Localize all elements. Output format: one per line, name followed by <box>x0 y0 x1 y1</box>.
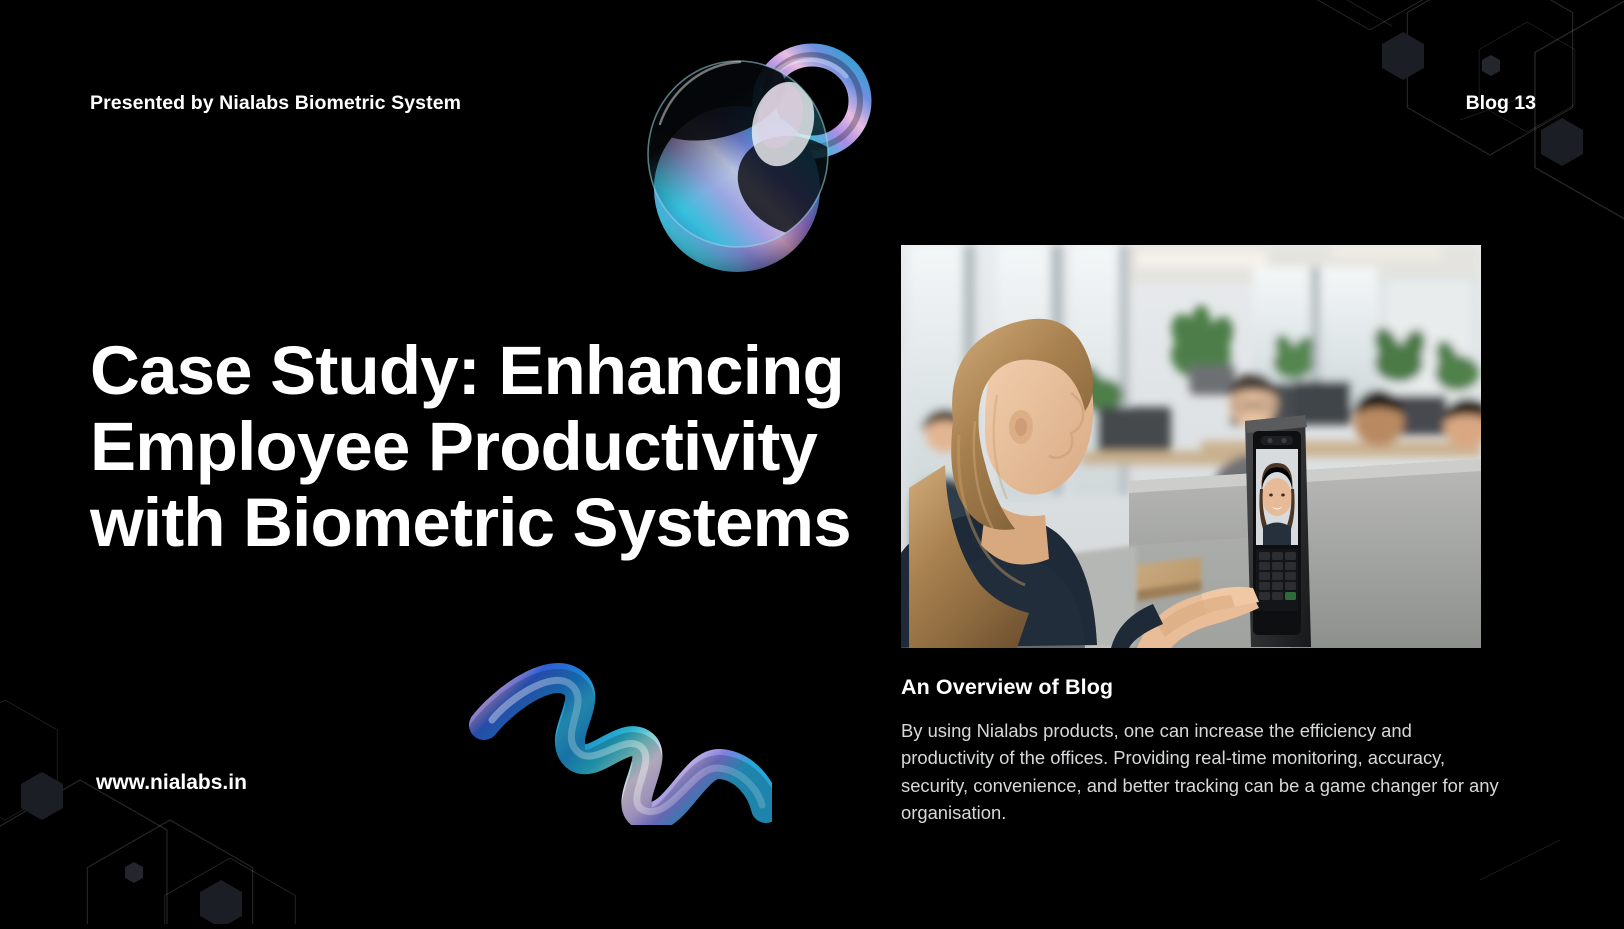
presenter-label: Presented by Nialabs Biometric System <box>90 92 461 115</box>
overview-body: By using Nialabs products, one can incre… <box>901 717 1501 827</box>
facial-recognition-terminal <box>1245 415 1311 647</box>
hexagon-filled <box>21 772 63 820</box>
hexagon-edge-line <box>1480 840 1560 880</box>
office-biometric-photo-svg <box>901 245 1481 648</box>
hexagon-outline <box>165 858 296 924</box>
hexagon-outline <box>0 780 167 924</box>
hexagon-filled <box>200 880 242 924</box>
recognized-face <box>1256 449 1298 545</box>
hero-photo <box>901 245 1481 648</box>
blog-number-label: Blog 13 <box>1466 92 1536 115</box>
hexagon-outline <box>87 820 252 924</box>
spiral-ribbon-decoration <box>462 630 772 825</box>
headline-line-3: with Biometric Systems <box>90 485 880 561</box>
page-title: Case Study: Enhancing Employee Productiv… <box>90 333 880 561</box>
hexagon-filled <box>125 862 143 883</box>
headline-line-1: Case Study: Enhancing <box>90 333 880 409</box>
spiral-ribbon-svg <box>462 630 772 825</box>
hexagon-outline <box>0 700 57 820</box>
overview-title: An Overview of Blog <box>901 675 1481 700</box>
right-column: An Overview of Blog By using Nialabs pro… <box>901 245 1481 827</box>
slide-header: Presented by Nialabs Biometric System Bl… <box>0 0 1624 150</box>
headline-line-2: Employee Productivity <box>90 409 880 485</box>
website-url[interactable]: www.nialabs.in <box>96 771 247 795</box>
